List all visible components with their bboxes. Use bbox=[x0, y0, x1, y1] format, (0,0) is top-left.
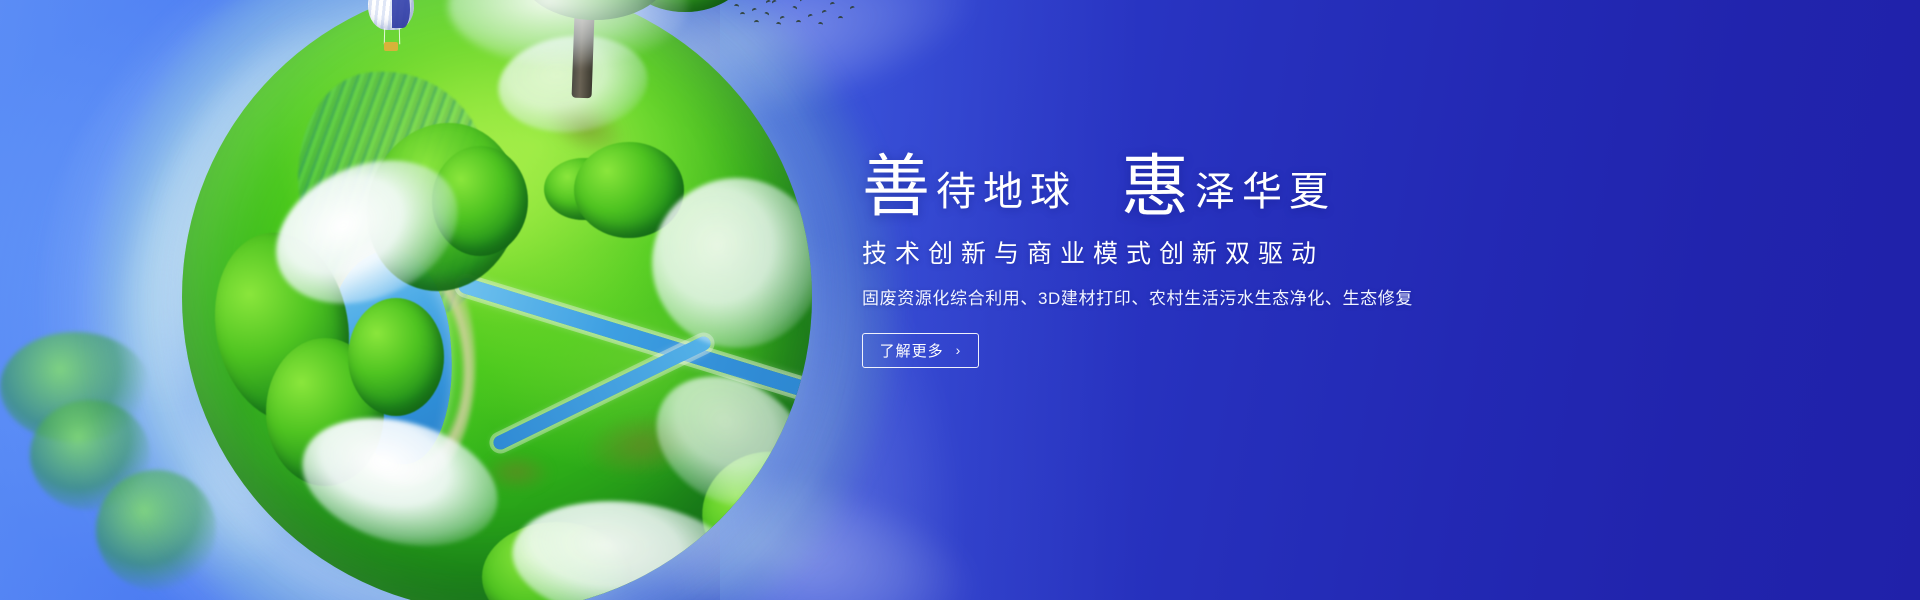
globe-illustration bbox=[136, 0, 856, 600]
forest-cluster bbox=[348, 298, 444, 416]
lake-shore bbox=[307, 227, 488, 494]
forest-cluster bbox=[266, 338, 384, 486]
forest-cluster bbox=[432, 146, 528, 256]
tree-canopy bbox=[620, 0, 750, 12]
tree-canopy bbox=[520, 0, 670, 20]
forest-cluster bbox=[689, 438, 812, 586]
subtitle: 技术创新与商业模式创新双驱动 bbox=[862, 242, 1482, 267]
balloon-stripe bbox=[392, 0, 410, 28]
cloud-icon bbox=[253, 133, 480, 331]
tree-mist bbox=[448, 0, 688, 66]
soil-patch bbox=[578, 404, 706, 486]
hero-content: 善 待地球 惠 泽华夏 技术创新与商业模式创新双驱动 固废资源化综合利用、3D建… bbox=[862, 132, 1482, 368]
lake-icon bbox=[323, 244, 463, 470]
description-text: 固废资源化综合利用、3D建材打印、农村生活污水生态净化、生态修复 bbox=[862, 290, 1482, 307]
cloud-icon bbox=[493, 28, 652, 139]
cloud-streak-icon bbox=[548, 428, 992, 600]
forest-cluster bbox=[201, 222, 364, 432]
learn-more-button[interactable]: 了解更多 › bbox=[862, 333, 979, 368]
balloon-envelope bbox=[368, 0, 414, 30]
tree-icon bbox=[424, 0, 754, 120]
hot-air-balloon-icon bbox=[368, 0, 414, 60]
chevron-right-icon: › bbox=[956, 343, 962, 357]
balloon-basket bbox=[384, 42, 398, 51]
headline-text-1: 待地球 bbox=[930, 172, 1077, 218]
balloon-ropes bbox=[384, 28, 400, 44]
cloud-icon bbox=[506, 490, 747, 600]
cloud-icon bbox=[641, 167, 812, 359]
headline-char-1: 善 bbox=[862, 154, 930, 222]
globe-sphere bbox=[182, 0, 812, 600]
mountain-ridge bbox=[284, 58, 507, 332]
soil-patch bbox=[535, 85, 635, 167]
birds-flock-icon bbox=[730, 0, 860, 36]
page-title: 善 待地球 惠 泽华夏 bbox=[862, 132, 1482, 218]
headline-char-2: 惠 bbox=[1121, 154, 1189, 222]
cloud-icon bbox=[287, 397, 512, 567]
forest-cluster bbox=[482, 522, 632, 600]
soil-patch bbox=[482, 452, 552, 492]
headline-text-2: 泽华夏 bbox=[1189, 172, 1336, 218]
forest-cluster bbox=[574, 142, 684, 238]
tree-trunk bbox=[572, 0, 597, 98]
grass-highlight bbox=[182, 0, 812, 600]
river-icon bbox=[491, 334, 713, 452]
hero-banner: 善 待地球 惠 泽华夏 技术创新与商业模式创新双驱动 固废资源化综合利用、3D建… bbox=[0, 0, 1920, 600]
forest-cluster bbox=[544, 158, 622, 220]
river-icon bbox=[456, 276, 812, 408]
edge-tree-silhouette bbox=[96, 470, 216, 590]
cloud-icon bbox=[633, 350, 812, 534]
globe-halo bbox=[96, 0, 896, 600]
learn-more-label: 了解更多 bbox=[880, 340, 944, 361]
forest-cluster bbox=[345, 103, 540, 311]
